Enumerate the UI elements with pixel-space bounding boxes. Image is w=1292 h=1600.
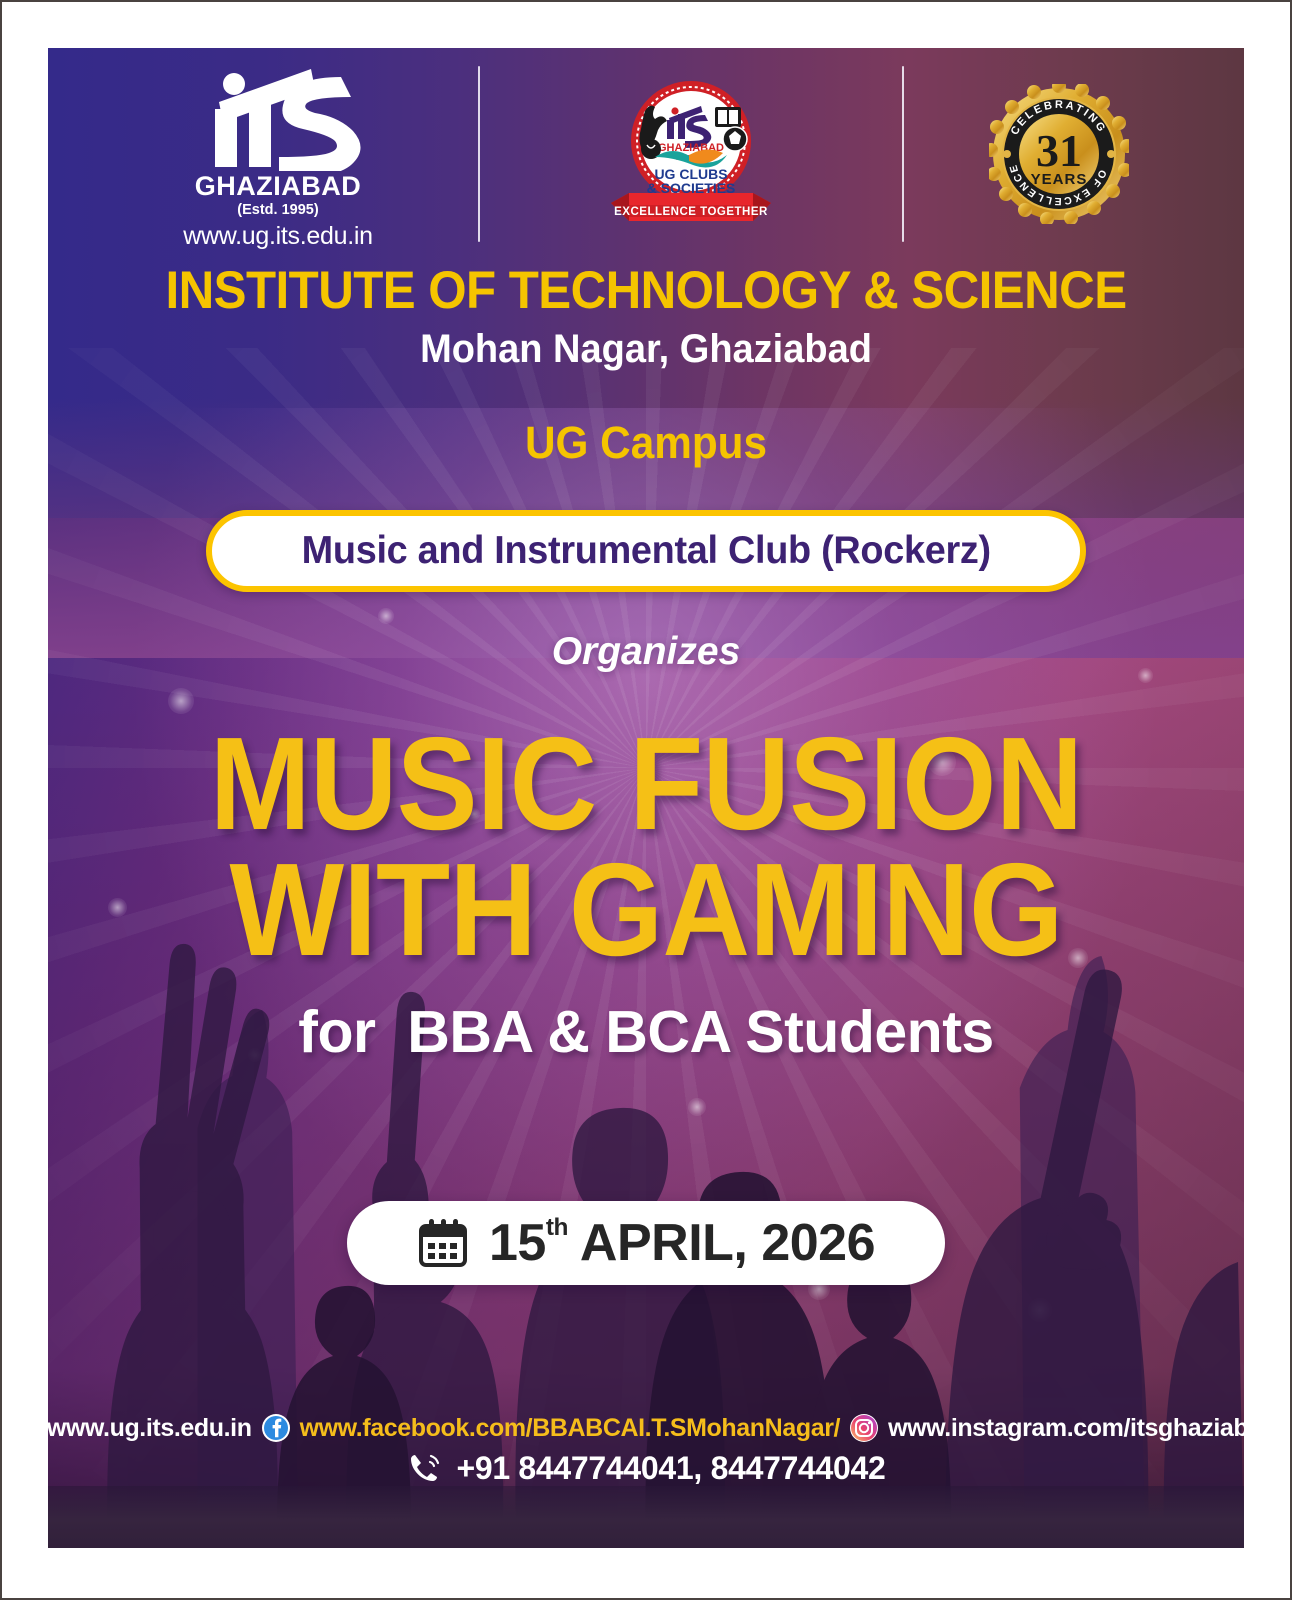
its-logo-icon <box>193 59 363 171</box>
organizes-label: Organizes <box>48 630 1244 674</box>
facebook-icon <box>261 1413 291 1443</box>
event-date-rest: APRIL, 2026 <box>568 1213 875 1273</box>
footer-facebook-item[interactable]: www.facebook.com/BBABCAI.T.SMohanNagar/ <box>261 1413 841 1443</box>
event-date-pill: 15th APRIL, 2026 <box>347 1201 945 1285</box>
institute-title-block: INSTITUTE OF TECHNOLOGY & SCIENCE Mohan … <box>48 264 1244 468</box>
poster-header: GHAZIABAD (Estd. 1995) www.ug.its.edu.in… <box>48 48 1244 248</box>
event-poster: GHAZIABAD (Estd. 1995) www.ug.its.edu.in… <box>48 48 1244 1548</box>
club-name-pill-wrapper: Music and Instrumental Club (Rockerz) <box>48 510 1244 592</box>
footer-links-row: www.ug.its.edu.in www.facebook.com/BBABC… <box>64 1413 1228 1443</box>
phone-icon <box>406 1450 442 1486</box>
club-name-pill: Music and Instrumental Club (Rockerz) <box>206 510 1086 592</box>
event-title: MUSIC FUSION WITH GAMING <box>48 722 1244 972</box>
event-date-ordinal: th <box>546 1216 568 1240</box>
institute-name: INSTITUTE OF TECHNOLOGY & SCIENCE <box>90 264 1202 318</box>
campus-name: UG Campus <box>84 418 1208 468</box>
footer-website-item[interactable]: www.ug.its.edu.in <box>48 1414 252 1443</box>
poster-page: GHAZIABAD (Estd. 1995) www.ug.its.edu.in… <box>2 2 1290 1598</box>
anniversary-badge-block: CELEBRATING OF EXCELLENCE 31 YEARS <box>904 84 1214 224</box>
anniversary-badge-icon: CELEBRATING OF EXCELLENCE 31 YEARS <box>989 84 1129 224</box>
header-divider-right <box>902 66 904 242</box>
calendar-icon <box>417 1217 469 1269</box>
stage-floor <box>48 1486 1244 1548</box>
footer-phone-text: +91 8447744041, 8447744042 <box>456 1452 885 1484</box>
svg-text:EXCELLENCE TOGETHER: EXCELLENCE TOGETHER <box>614 206 768 218</box>
poster-footer: www.ug.its.edu.in www.facebook.com/BBABC… <box>48 1413 1244 1486</box>
event-date-text: 15th APRIL, 2026 <box>489 1213 875 1273</box>
target-audience: for BBA & BCA Students <box>48 998 1244 1066</box>
footer-facebook-text: www.facebook.com/BBABCAI.T.SMohanNagar/ <box>300 1416 841 1441</box>
footer-phone-row[interactable]: +91 8447744041, 8447744042 <box>64 1450 1228 1486</box>
event-date-wrapper: 15th APRIL, 2026 <box>48 1201 1244 1285</box>
its-logo-estd: (Estd. 1995) <box>237 203 318 218</box>
svg-text:31: 31 <box>1036 125 1082 176</box>
footer-instagram-text: www.instagram.com/itsghaziabad/ <box>888 1416 1244 1441</box>
its-logo-url: www.ug.its.edu.in <box>183 224 372 249</box>
footer-website-text: www.ug.its.edu.in <box>48 1416 252 1441</box>
club-emblem-block: GHAZIABAD (Estd. 1995) UG CLUBS <box>480 75 902 233</box>
event-title-line-2: WITH GAMING <box>96 848 1196 972</box>
instagram-icon <box>849 1413 879 1443</box>
its-logo-city: GHAZIABAD <box>195 173 362 200</box>
institute-location: Mohan Nagar, Ghaziabad <box>78 327 1214 371</box>
footer-instagram-item[interactable]: www.instagram.com/itsghaziabad/ <box>849 1413 1244 1443</box>
ug-clubs-emblem-icon: GHAZIABAD (Estd. 1995) UG CLUBS <box>605 75 777 233</box>
svg-text:YEARS: YEARS <box>1031 171 1088 188</box>
club-name-text: Music and Instrumental Club (Rockerz) <box>301 529 990 573</box>
header-divider-left <box>478 66 480 242</box>
event-title-line-1: MUSIC FUSION <box>96 722 1196 846</box>
institute-logo-block: GHAZIABAD (Estd. 1995) www.ug.its.edu.in <box>78 59 478 250</box>
event-date-day: 15 <box>489 1213 546 1273</box>
